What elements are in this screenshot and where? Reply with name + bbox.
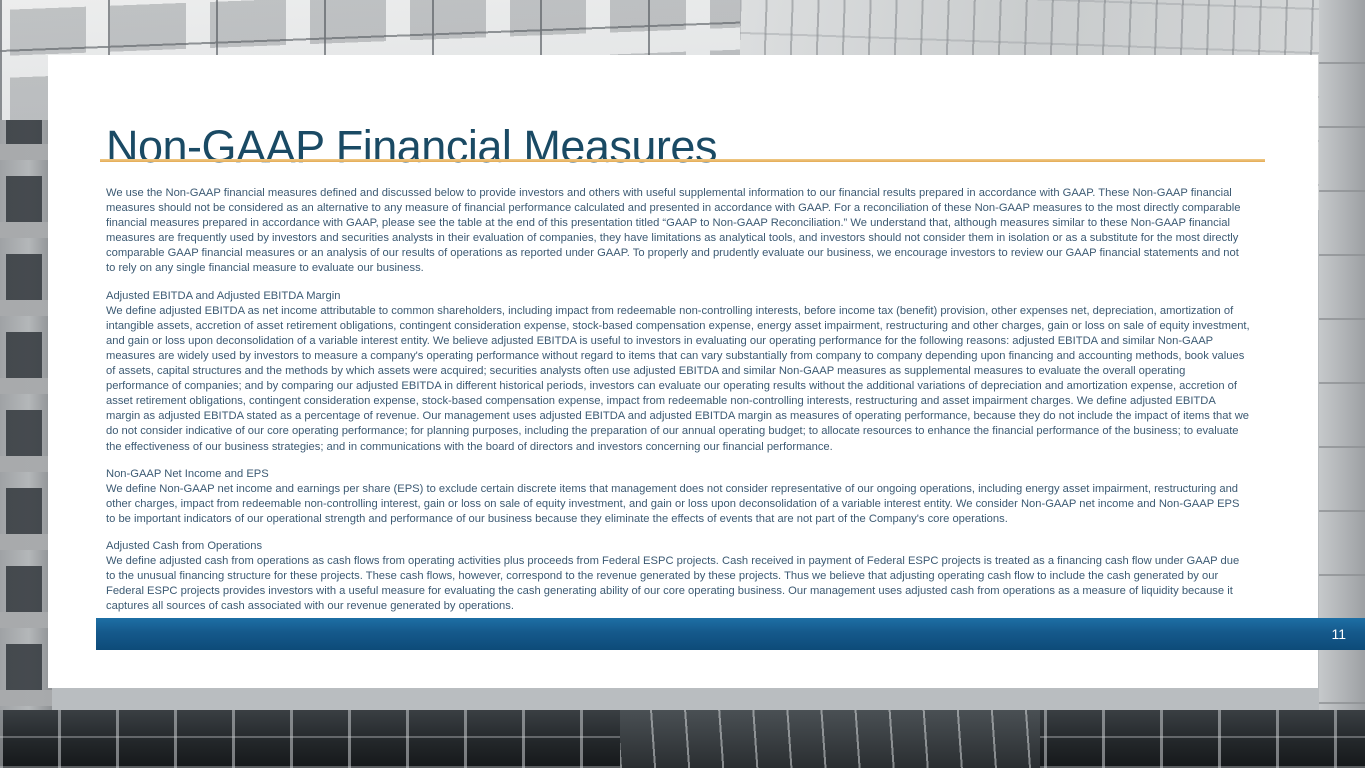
slide-content-panel: Non-GAAP Financial Measures We use the N… <box>48 55 1318 688</box>
intro-paragraph: We use the Non-GAAP financial measures d… <box>106 186 1250 277</box>
slide-footer-bar: 11 <box>96 618 1365 650</box>
building-facade-right-icon <box>1319 0 1365 768</box>
section-body: We define Non-GAAP net income and earnin… <box>106 482 1250 527</box>
section-body: We define adjusted EBITDA as net income … <box>106 304 1250 455</box>
slide-body-content: We use the Non-GAAP financial measures d… <box>106 186 1250 614</box>
page-title: Non-GAAP Financial Measures <box>106 121 717 173</box>
intro-paragraph-block: We use the Non-GAAP financial measures d… <box>106 186 1250 277</box>
presentation-slide: Non-GAAP Financial Measures We use the N… <box>0 0 1365 768</box>
section-heading: Non-GAAP Net Income and EPS <box>106 467 1250 482</box>
section-heading: Adjusted Cash from Operations <box>106 539 1250 554</box>
title-divider <box>100 159 1265 162</box>
section-block: Adjusted EBITDA and Adjusted EBITDA Marg… <box>106 289 1250 455</box>
section-block: Non-GAAP Net Income and EPS We define No… <box>106 467 1250 527</box>
section-heading: Adjusted EBITDA and Adjusted EBITDA Marg… <box>106 289 1250 304</box>
page-number: 11 <box>1331 626 1346 642</box>
building-facade-bottom-center-icon <box>620 710 1040 768</box>
section-body: We define adjusted cash from operations … <box>106 554 1250 614</box>
building-windows-left-icon <box>6 120 42 768</box>
section-block: Adjusted Cash from Operations We define … <box>106 539 1250 614</box>
